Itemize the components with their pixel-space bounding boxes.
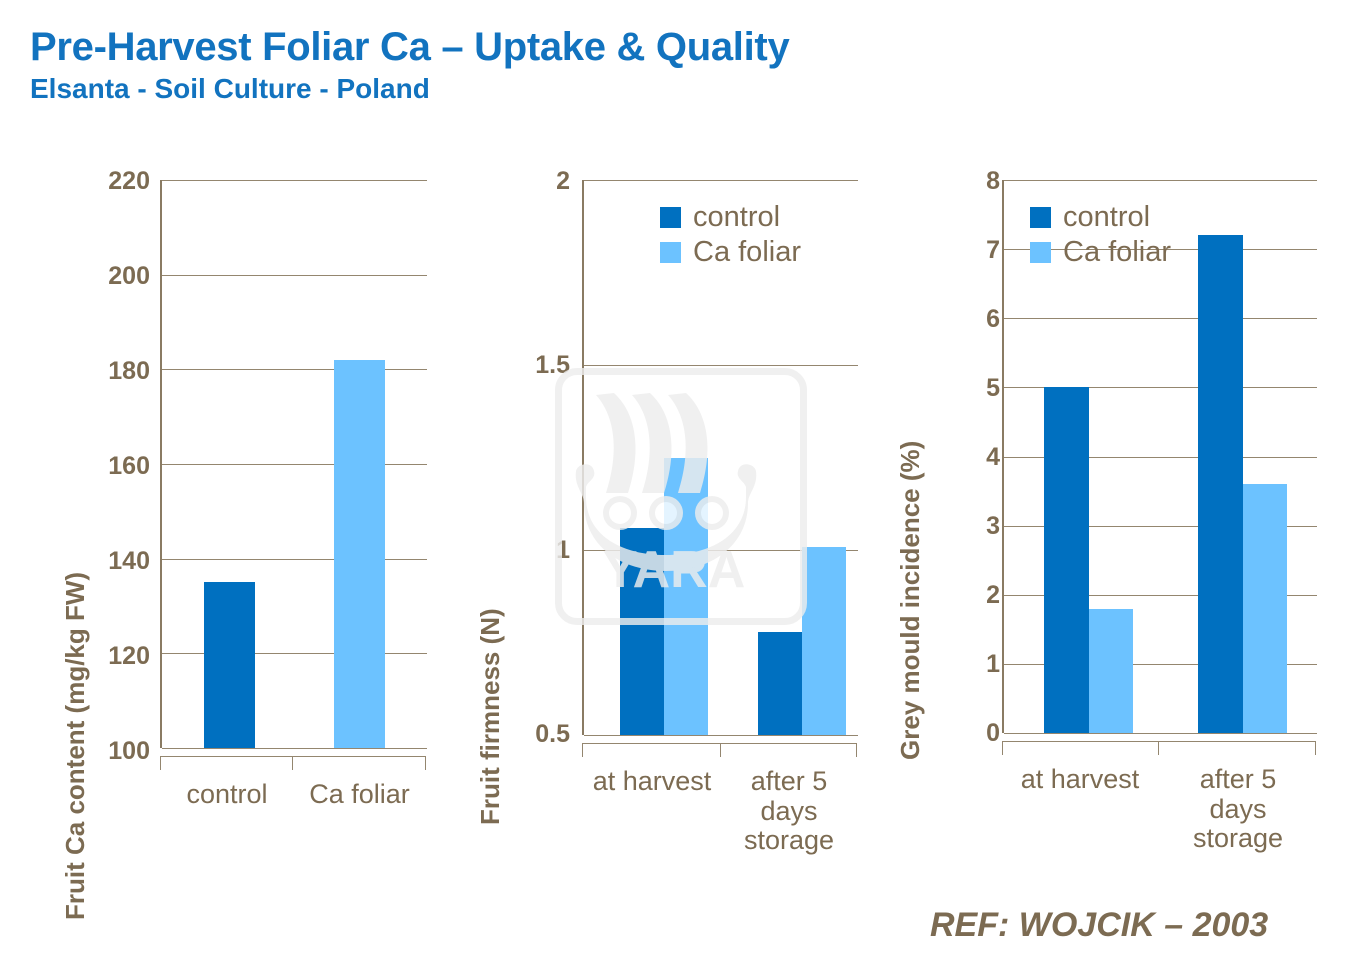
gridline bbox=[584, 180, 858, 181]
bar-ca-foliar[interactable] bbox=[1089, 609, 1133, 733]
chart2-tick bbox=[582, 743, 583, 757]
chart1-y-axis-label: Fruit Ca content (mg/kg FW) bbox=[60, 572, 91, 920]
chart3-xlabel-at-harvest: at harvest bbox=[1000, 765, 1160, 795]
gridline bbox=[1004, 180, 1317, 181]
chart-fruit-firmness: Fruit firmness (N) 2 1.5 1 0.5 at harves… bbox=[455, 160, 895, 900]
chart2-y-axis-label: Fruit firmness (N) bbox=[475, 608, 506, 825]
legend-label-control: control bbox=[1063, 203, 1150, 232]
chart1-ytick: 220 bbox=[90, 169, 150, 194]
legend-item-control[interactable]: control bbox=[660, 203, 801, 232]
chart3-ytick: 4 bbox=[950, 445, 1000, 470]
page-title: Pre-Harvest Foliar Ca – Uptake & Quality bbox=[30, 26, 789, 68]
chart2-xlabel-after-storage: after 5 days storage bbox=[721, 767, 857, 856]
chart2-tick bbox=[856, 743, 857, 757]
bar-control[interactable] bbox=[204, 582, 255, 748]
chart3-ytick: 5 bbox=[950, 376, 1000, 401]
chart3-ytick: 3 bbox=[950, 514, 1000, 539]
chart1-ytick: 200 bbox=[90, 264, 150, 289]
chart1-x-axis bbox=[160, 756, 426, 757]
gridline bbox=[162, 653, 427, 654]
gridline bbox=[584, 735, 858, 736]
chart3-ytick: 2 bbox=[950, 583, 1000, 608]
bar-control[interactable] bbox=[758, 632, 802, 735]
bar-control[interactable] bbox=[1044, 387, 1089, 733]
gridline bbox=[162, 275, 427, 276]
bar-ca-foliar[interactable] bbox=[802, 547, 846, 735]
gridline bbox=[1004, 318, 1317, 319]
gridline bbox=[162, 369, 427, 370]
gridline bbox=[1004, 733, 1317, 734]
chart3-tick bbox=[1158, 741, 1159, 755]
chart2-tick bbox=[720, 743, 721, 757]
chart3-tick bbox=[1315, 741, 1316, 755]
gridline bbox=[162, 559, 427, 560]
page-subtitle: Elsanta - Soil Culture - Poland bbox=[30, 74, 789, 103]
legend-label-ca-foliar: Ca foliar bbox=[693, 238, 801, 267]
chart3-tick bbox=[1002, 741, 1003, 755]
chart3-ytick: 1 bbox=[950, 652, 1000, 677]
chart2-ytick: 1.5 bbox=[510, 353, 570, 378]
gridline bbox=[162, 748, 427, 749]
chart2-ytick: 2 bbox=[510, 169, 570, 194]
legend-item-ca-foliar[interactable]: Ca foliar bbox=[660, 238, 801, 267]
chart1-plot-area bbox=[160, 180, 427, 748]
chart2-legend: control Ca foliar bbox=[660, 203, 801, 273]
bar-control[interactable] bbox=[1198, 235, 1243, 733]
chart3-ytick: 6 bbox=[950, 307, 1000, 332]
legend-label-ca-foliar: Ca foliar bbox=[1063, 238, 1171, 267]
bar-ca-foliar[interactable] bbox=[1243, 484, 1287, 733]
chart3-ytick: 0 bbox=[950, 721, 1000, 746]
slide-header: Pre-Harvest Foliar Ca – Uptake & Quality… bbox=[30, 26, 789, 103]
reference-note: REF: WOJCIK – 2003 bbox=[930, 906, 1268, 945]
chart2-ytick: 1 bbox=[510, 538, 570, 563]
chart1-ytick: 140 bbox=[90, 549, 150, 574]
chart1-xlabel-control: control bbox=[162, 780, 292, 810]
chart3-x-axis bbox=[1002, 741, 1316, 742]
gridline bbox=[584, 365, 858, 366]
gridline bbox=[162, 180, 427, 181]
chart1-tick bbox=[425, 756, 426, 770]
gridline bbox=[162, 464, 427, 465]
legend-item-ca-foliar[interactable]: Ca foliar bbox=[1030, 238, 1171, 267]
chart1-tick bbox=[292, 756, 293, 770]
bar-control[interactable] bbox=[620, 528, 664, 735]
chart-grey-mould-incidence: Grey mould incidence (%) 8 7 6 5 4 3 2 1… bbox=[880, 160, 1345, 900]
legend-label-control: control bbox=[693, 203, 780, 232]
chart3-ytick: 8 bbox=[950, 169, 1000, 194]
bar-ca-foliar[interactable] bbox=[334, 360, 385, 748]
legend-swatch-control bbox=[660, 207, 681, 228]
chart1-xlabel-ca-foliar: Ca foliar bbox=[292, 780, 427, 810]
legend-swatch-ca-foliar bbox=[660, 242, 681, 263]
chart3-xlabel-after-storage: after 5 days storage bbox=[1168, 765, 1308, 854]
chart1-ytick: 180 bbox=[90, 359, 150, 384]
chart2-xlabel-at-harvest: at harvest bbox=[585, 767, 719, 797]
chart-fruit-ca-content: Fruit Ca content (mg/kg FW) 220 200 180 … bbox=[0, 160, 450, 860]
legend-item-control[interactable]: control bbox=[1030, 203, 1171, 232]
chart1-ytick: 120 bbox=[90, 644, 150, 669]
legend-swatch-ca-foliar bbox=[1030, 242, 1051, 263]
chart1-tick bbox=[160, 756, 161, 770]
chart1-ytick: 160 bbox=[90, 454, 150, 479]
chart3-y-axis-label: Grey mould incidence (%) bbox=[895, 441, 926, 760]
chart3-legend: control Ca foliar bbox=[1030, 203, 1171, 273]
chart2-ytick: 0.5 bbox=[510, 722, 570, 747]
chart1-ytick: 100 bbox=[90, 739, 150, 764]
bar-ca-foliar[interactable] bbox=[664, 458, 708, 735]
chart3-ytick: 7 bbox=[950, 238, 1000, 263]
legend-swatch-control bbox=[1030, 207, 1051, 228]
